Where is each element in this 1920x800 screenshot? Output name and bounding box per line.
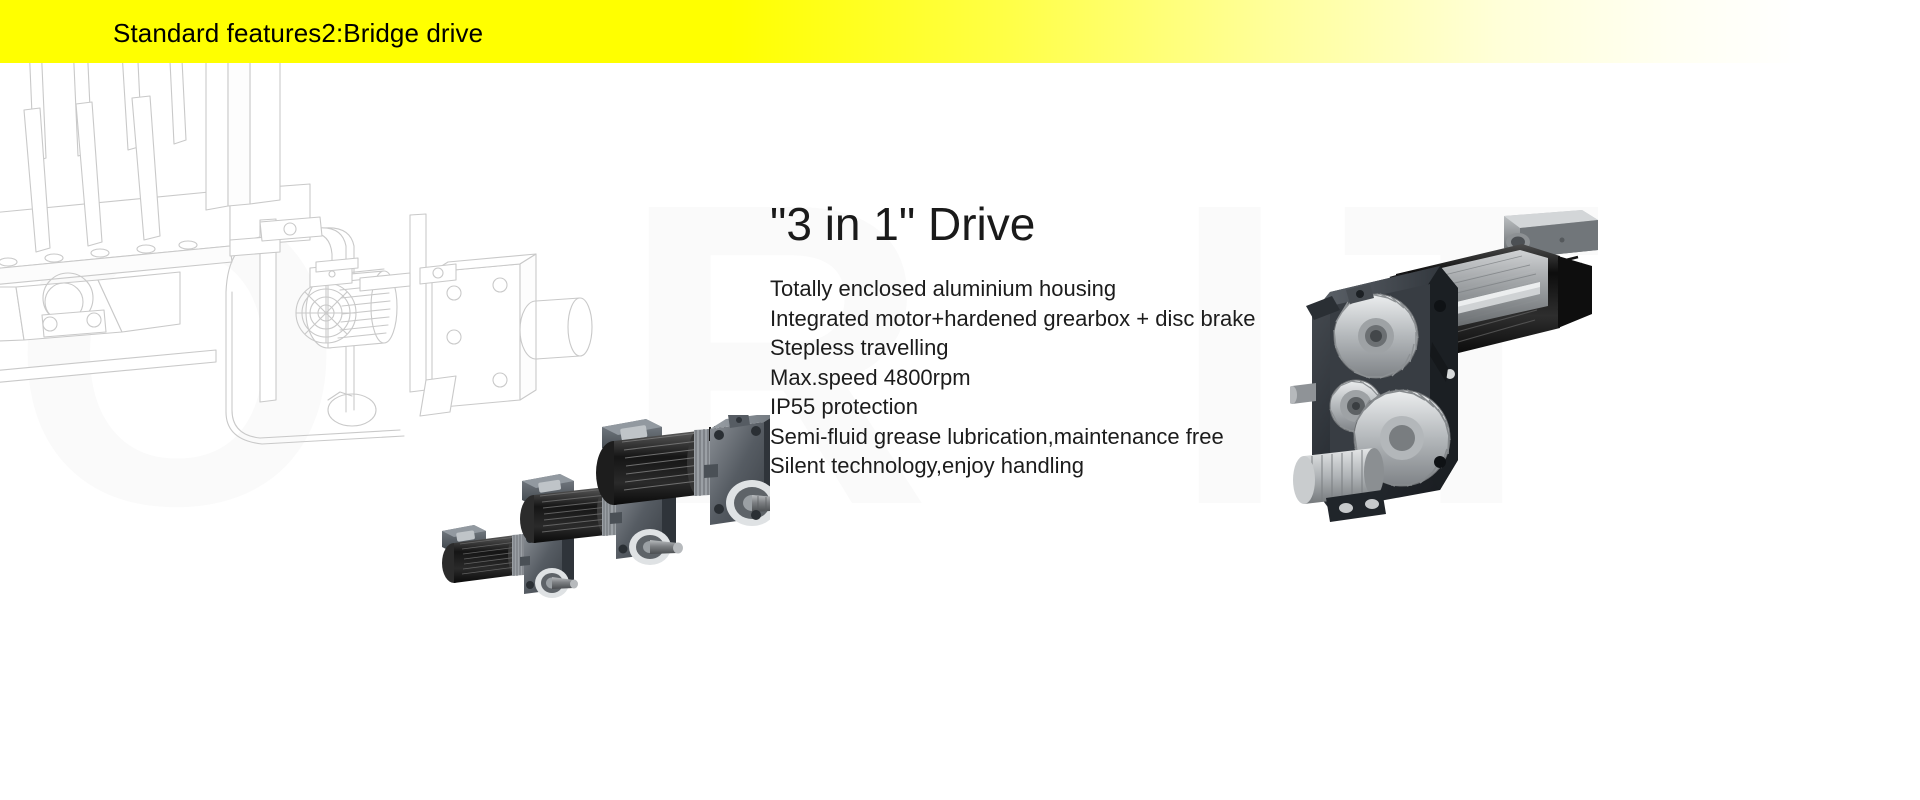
drive-title: "3 in 1" Drive: [770, 196, 1410, 252]
feature-item: Max.speed 4800rpm: [770, 363, 1410, 393]
feature-item: Silent technology,enjoy handling: [770, 451, 1410, 481]
feature-list: Totally enclosed aluminium housing Integ…: [770, 274, 1410, 481]
watermark-letter-o: O: [10, 140, 344, 570]
header-band: Standard features2:Bridge drive: [0, 0, 1920, 63]
three-geared-motor-drives-render: [430, 415, 770, 650]
feature-item: IP55 protection: [770, 392, 1410, 422]
feature-item: Totally enclosed aluminium housing: [770, 274, 1410, 304]
slide-root: O R I T: [0, 0, 1920, 800]
feature-item: Integrated motor+hardened grearbox + dis…: [770, 304, 1410, 334]
feature-item: Stepless travelling: [770, 333, 1410, 363]
page-title: Standard features2:Bridge drive: [113, 18, 483, 48]
feature-item: Semi-fluid grease lubrication,maintenanc…: [770, 422, 1410, 452]
content-block: "3 in 1" Drive Totally enclosed aluminiu…: [770, 196, 1410, 481]
